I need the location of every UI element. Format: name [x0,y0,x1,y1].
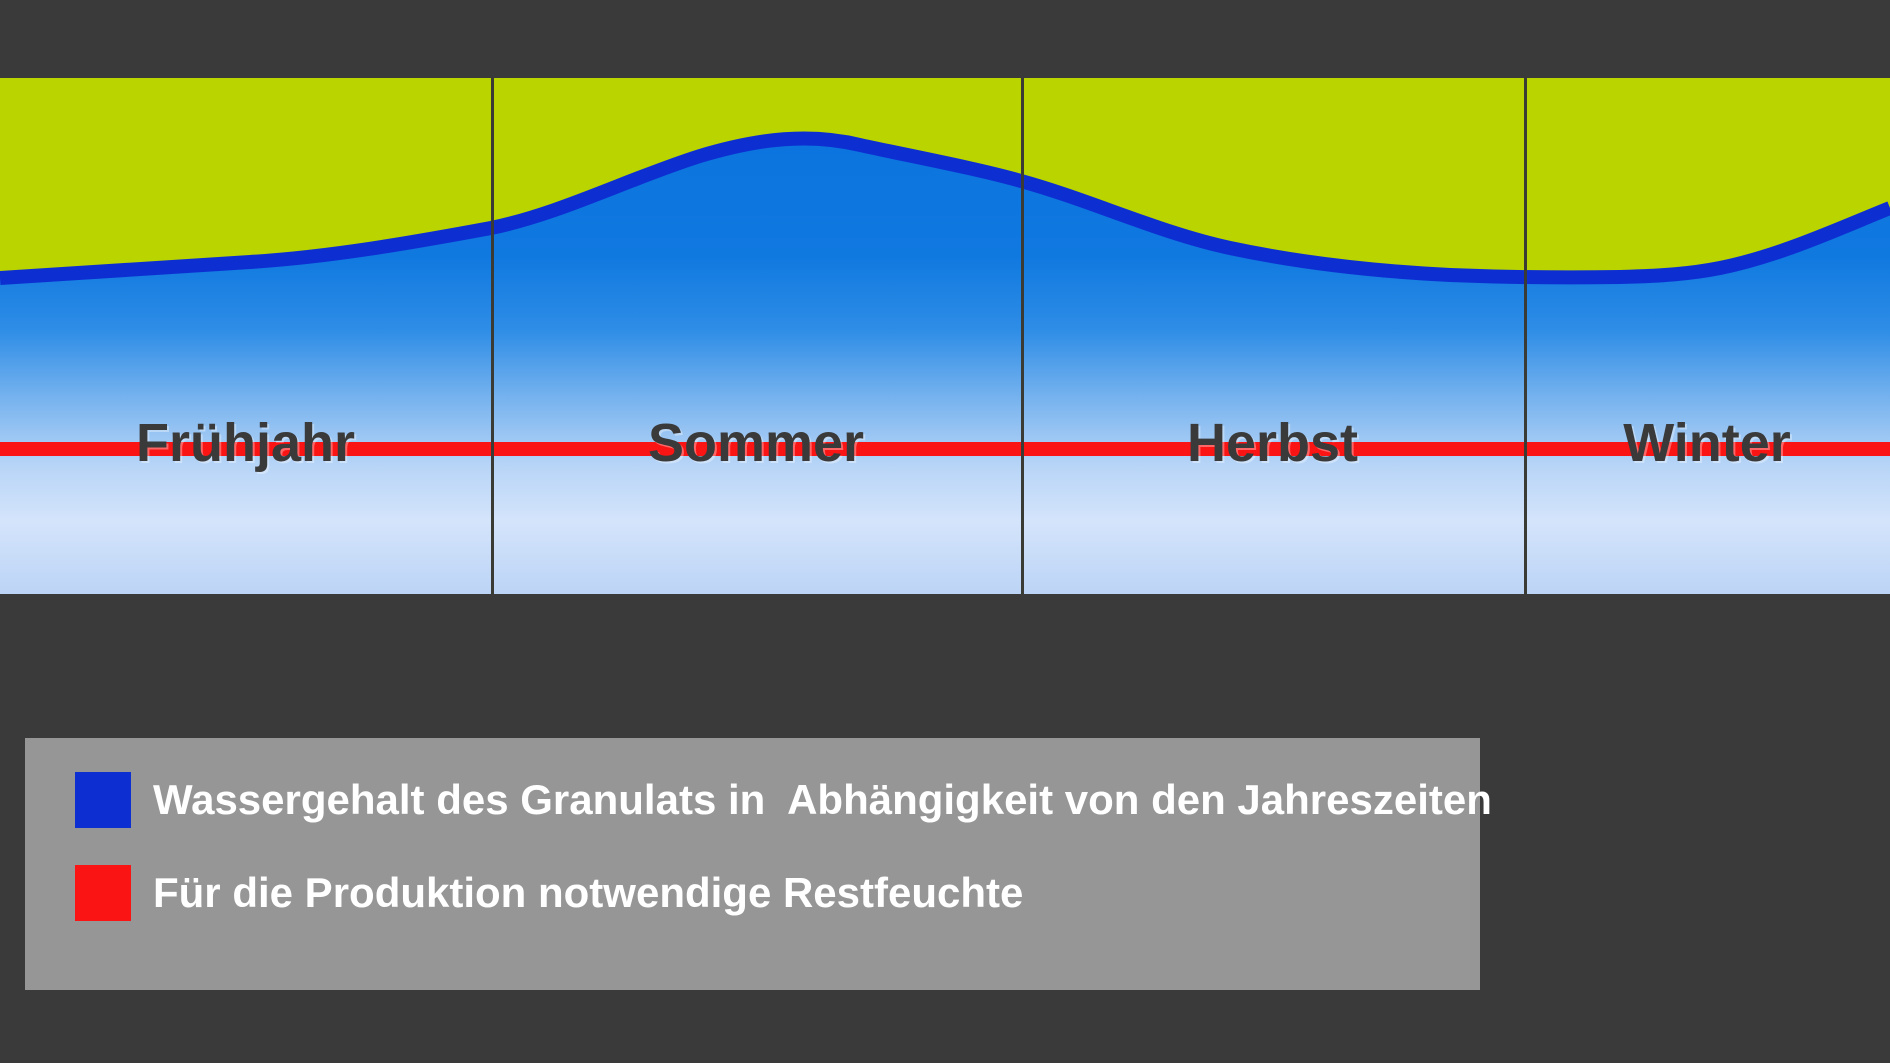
chart-legend: Wassergehalt des Granulats in Abhängigke… [25,738,1480,990]
seasonal-moisture-chart: Frühjahr Sommer Herbst Winter [0,78,1890,594]
legend-item-required-moisture: Für die Produktion notwendige Restfeucht… [25,853,1480,933]
legend-item-label: Wassergehalt des Granulats in Abhängigke… [153,778,1492,822]
water-area-fill [0,138,1890,594]
water-content-area [0,138,1890,594]
chart-svg [0,78,1890,594]
chart-screenshot-root: Frühjahr Sommer Herbst Winter Wassergeha… [0,0,1890,1063]
legend-item-label: Für die Produktion notwendige Restfeucht… [153,871,1023,915]
season-divider-3 [1524,78,1527,594]
season-divider-1 [491,78,494,594]
legend-item-water-content: Wassergehalt des Granulats in Abhängigke… [25,760,1480,840]
season-divider-2 [1021,78,1024,594]
red-square-swatch-icon [75,865,131,921]
blue-square-swatch-icon [75,772,131,828]
